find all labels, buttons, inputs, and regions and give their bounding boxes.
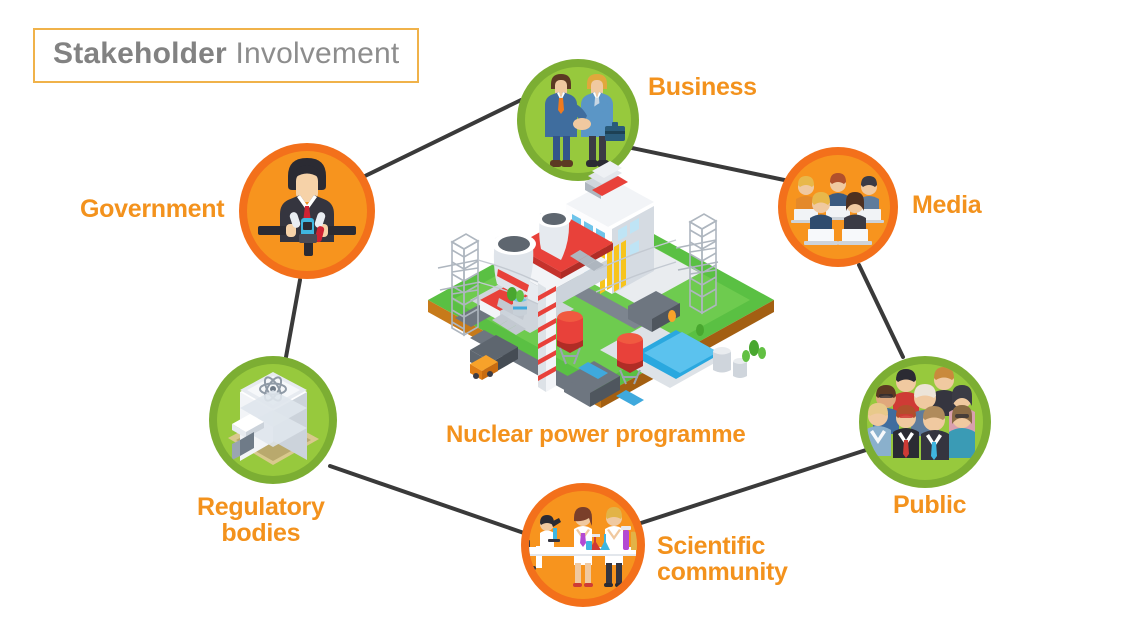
node-label-media: Media: [912, 192, 981, 218]
node-label-government: Government: [80, 196, 224, 222]
stakeholder-involvement-diagram: Stakeholder Involvement Government Busin…: [0, 0, 1140, 640]
node-label-business: Business: [648, 74, 757, 100]
center-label-nuclear-power-programme: Nuclear power programme: [446, 421, 746, 449]
node-label-public: Public: [893, 492, 966, 518]
nuclear-power-plant-illustration: [0, 0, 1140, 640]
node-label-regulatory: Regulatory bodies: [197, 494, 325, 546]
node-label-scientific: Scientific community: [657, 533, 788, 585]
